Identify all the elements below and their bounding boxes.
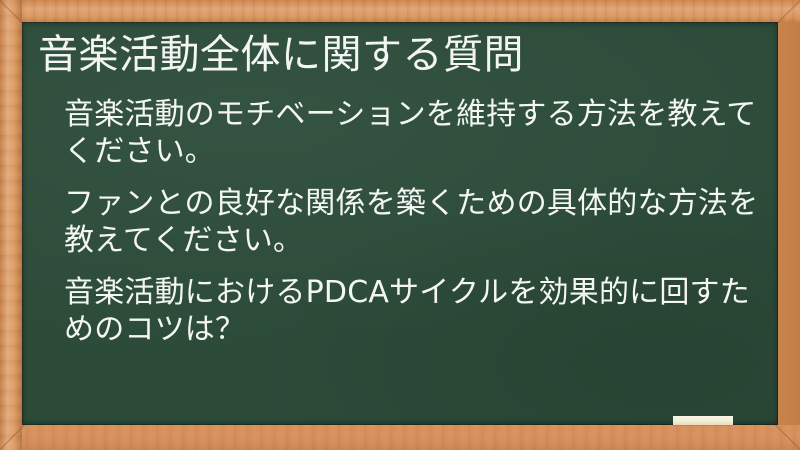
question-list: 音楽活動のモチベーションを維持する方法を教えてください。 ファンとの良好な関係を… [30,96,776,348]
frame-rail-bottom [0,425,800,450]
frame-rail-right [778,0,800,450]
frame-rail-left [0,0,22,450]
slide-content: 音楽活動全体に関する質問 音楽活動のモチベーションを維持する方法を教えてください… [22,22,778,425]
list-item: 音楽活動のモチベーションを維持する方法を教えてください。 [64,96,770,170]
page-title: 音楽活動全体に関する質問 [30,32,776,78]
chalkboard: 音楽活動全体に関する質問 音楽活動のモチベーションを維持する方法を教えてください… [22,22,778,425]
list-item: ファンとの良好な関係を築くための具体的な方法を教えてください。 [64,185,770,259]
list-item: 音楽活動におけるPDCAサイクルを効果的に回すためのコツは？ [64,274,770,348]
frame-rail-top [0,0,800,22]
chalk-stick [673,416,733,425]
slide-canvas: 音楽活動全体に関する質問 音楽活動のモチベーションを維持する方法を教えてください… [0,0,800,450]
